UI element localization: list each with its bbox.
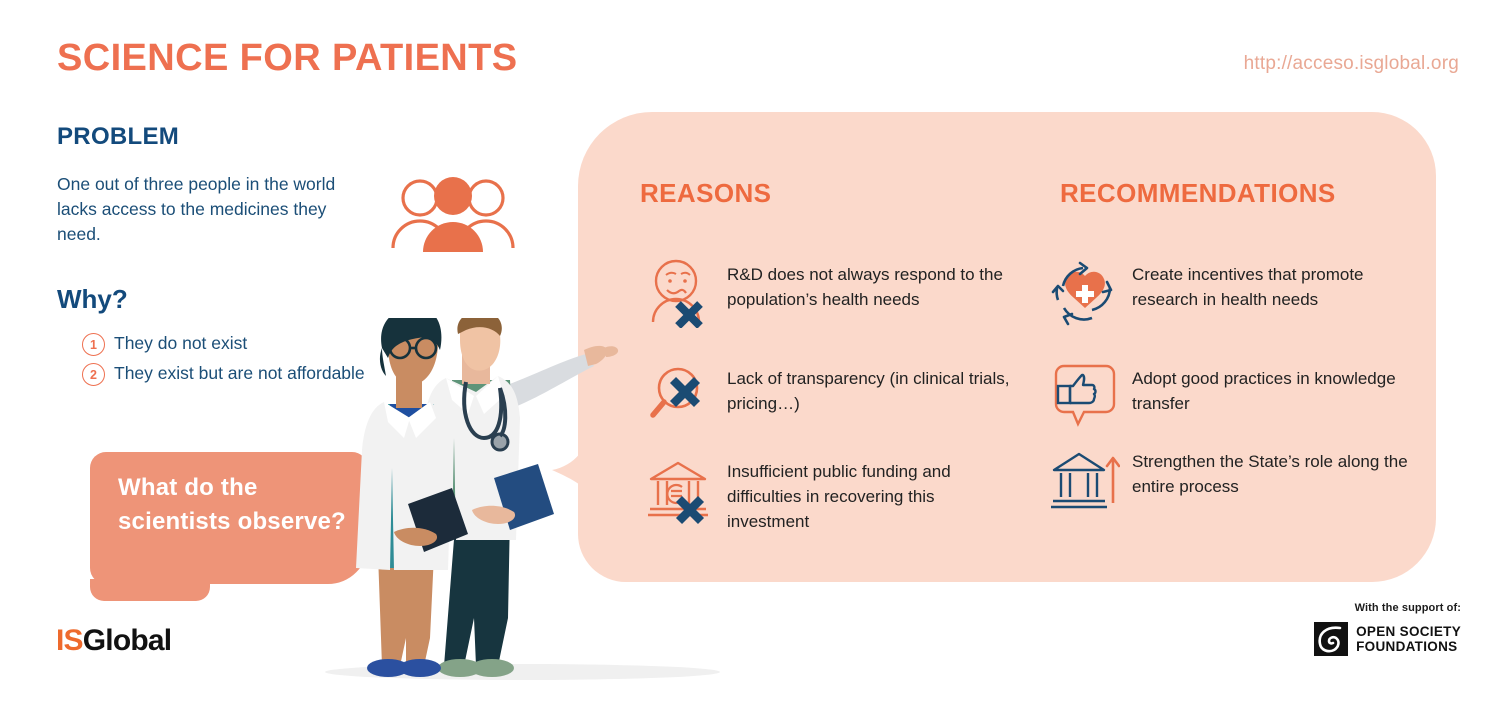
reason-item: Lack of transparency (in clinical trials… [645,362,1017,432]
reason-text: Lack of transparency (in clinical trials… [727,362,1017,416]
site-url-link[interactable]: http://acceso.isglobal.org [1244,53,1459,75]
recommendation-text: Strengthen the State’s role along the en… [1132,445,1412,499]
why-list: 1 They do not exist 2 They exist but are… [82,330,372,390]
three-people-icon [388,172,518,254]
recommendation-item: Strengthen the State’s role along the en… [1050,445,1412,515]
reasons-heading: REASONS [640,178,771,209]
open-society-foundations-logo: OPEN SOCIETY FOUNDATIONS [1314,622,1461,656]
open-society-foundations-wordmark: OPEN SOCIETY FOUNDATIONS [1356,624,1461,654]
reason-text: R&D does not always respond to the popul… [727,258,1017,312]
recommendation-text: Adopt good practices in knowledge transf… [1132,362,1412,416]
reason-item: Insufficient public funding and difficul… [645,455,1017,534]
magnifying-glass-icon [645,362,715,432]
two-doctors-illustration [348,318,623,683]
recommendation-item: Create incentives that promote research … [1050,258,1412,328]
observe-bubble-text: What do the scientists observe? [118,471,368,539]
problem-heading: PROBLEM [57,123,179,151]
list-item-label: They exist but are not affordable [114,360,365,386]
bank-arrow-up-icon [1050,445,1120,515]
recommendation-text: Create incentives that promote research … [1132,258,1412,312]
reason-text: Insufficient public funding and difficul… [727,455,1017,534]
isglobal-logo-global: Global [83,624,172,657]
open-society-spiral-icon [1314,622,1348,656]
problem-body-text: One out of three people in the world lac… [57,172,357,247]
list-number: 2 [82,363,105,386]
support-label: With the support of: [1161,602,1461,614]
infographic-canvas: SCIENCE FOR PATIENTS http://acceso.isglo… [0,0,1493,706]
heart-plus-cycle-icon [1050,258,1120,328]
thumbs-up-icon [1050,362,1120,432]
list-number: 1 [82,333,105,356]
isglobal-logo-is: IS [56,624,83,657]
isglobal-logo: ISGlobal [56,624,171,658]
recommendations-heading: RECOMMENDATIONS [1060,178,1336,209]
why-heading: Why? [57,284,128,315]
list-item-label: They do not exist [114,330,247,356]
list-item: 1 They do not exist [82,330,372,356]
list-item: 2 They exist but are not affordable [82,360,372,386]
reason-item: R&D does not always respond to the popul… [645,258,1017,328]
osf-line-2: FOUNDATIONS [1356,639,1461,654]
worried-person-icon [645,258,715,328]
page-title: SCIENCE FOR PATIENTS [57,37,518,80]
recommendation-item: Adopt good practices in knowledge transf… [1050,362,1412,432]
bank-euro-icon [645,455,715,525]
osf-line-1: OPEN SOCIETY [1356,624,1461,639]
